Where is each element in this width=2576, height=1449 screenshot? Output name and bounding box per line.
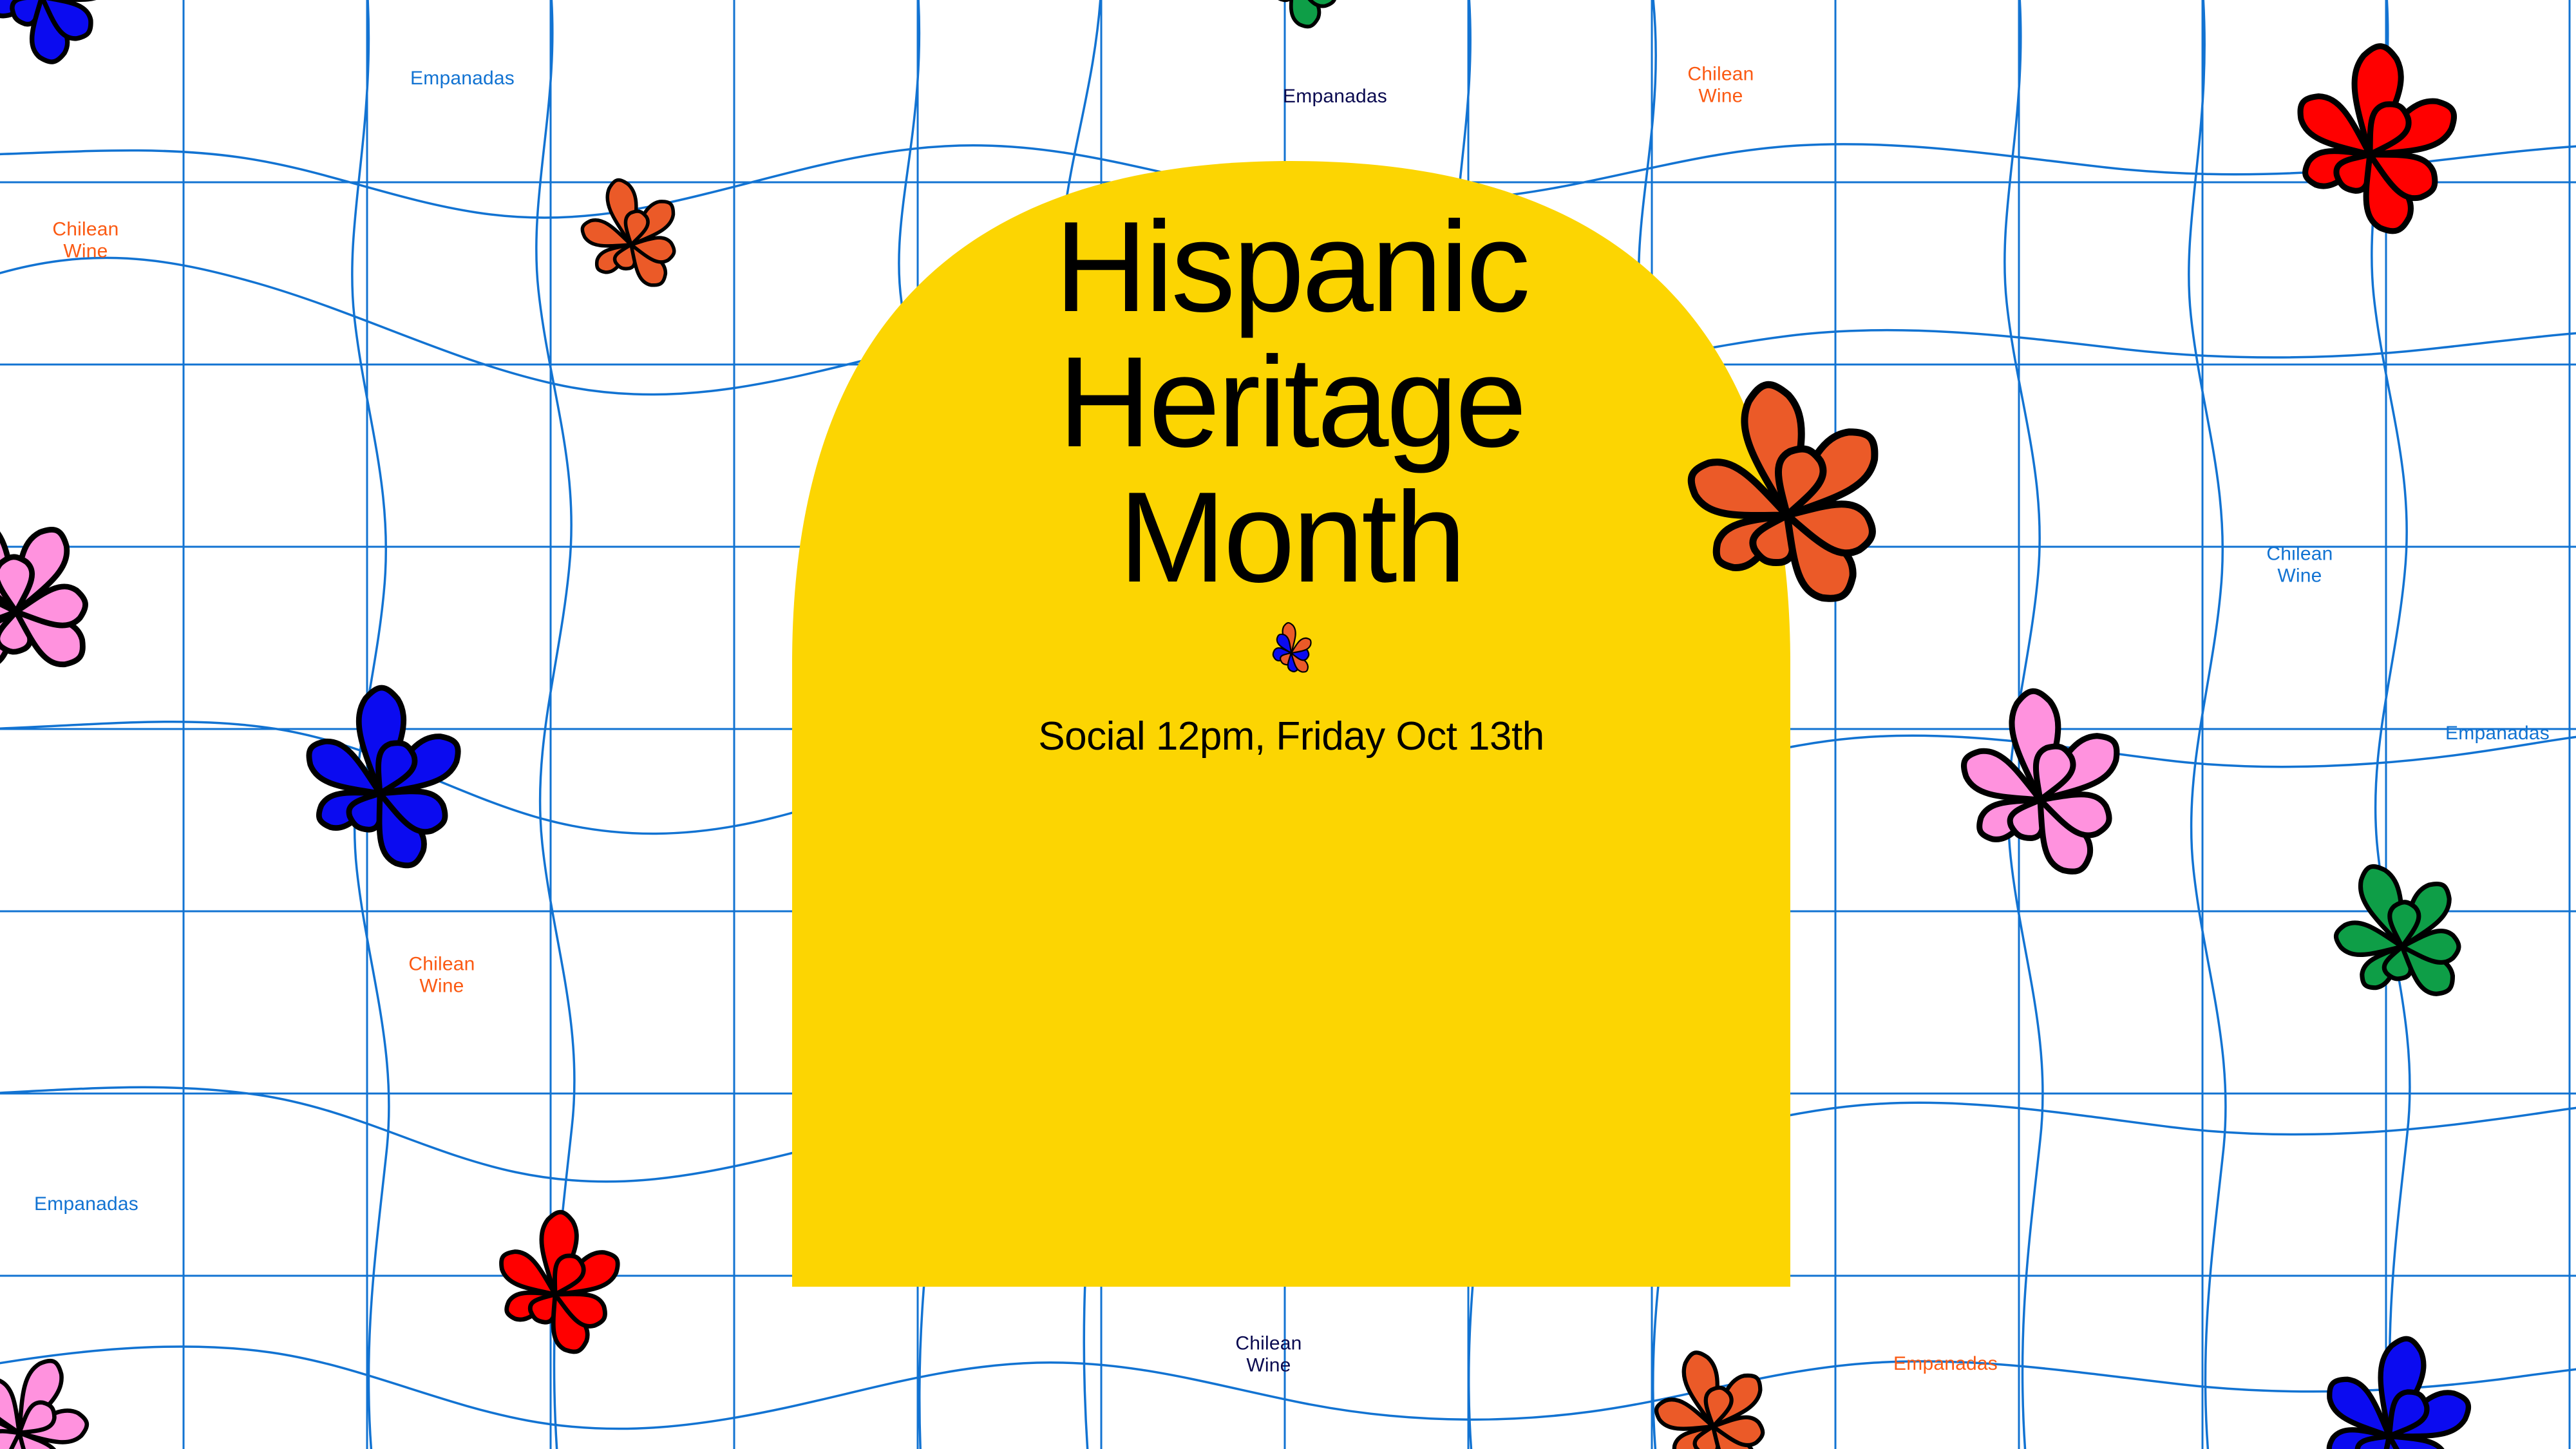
ornament-flower-wrap [792, 614, 1790, 692]
background-label-empanadas: Empanadas [2445, 723, 2550, 744]
flower-ornament-icon [1256, 618, 1327, 688]
background-label-empanadas: Empanadas [1893, 1353, 1998, 1375]
arch-content: Hispanic Heritage Month Social 12pm, Fri… [792, 161, 1790, 759]
background-label-empanadas: Empanadas [34, 1193, 138, 1215]
background-label-chilean-wine: Chilean Wine [52, 218, 118, 261]
background-label-chilean-wine: Chilean Wine [2266, 543, 2333, 586]
page-title: Hispanic Heritage Month [792, 200, 1790, 605]
background-label-empanadas: Empanadas [410, 68, 515, 90]
background-label-chilean-wine: Chilean Wine [1687, 63, 1754, 106]
background-label-empanadas: Empanadas [1283, 86, 1387, 108]
background-label-chilean-wine: Chilean Wine [408, 953, 475, 996]
poster-canvas: EmpanadasChilean WineEmpanadasChilean Wi… [0, 0, 2576, 1449]
event-subtitle: Social 12pm, Friday Oct 13th [792, 714, 1790, 759]
background-label-chilean-wine: Chilean Wine [1235, 1332, 1302, 1376]
